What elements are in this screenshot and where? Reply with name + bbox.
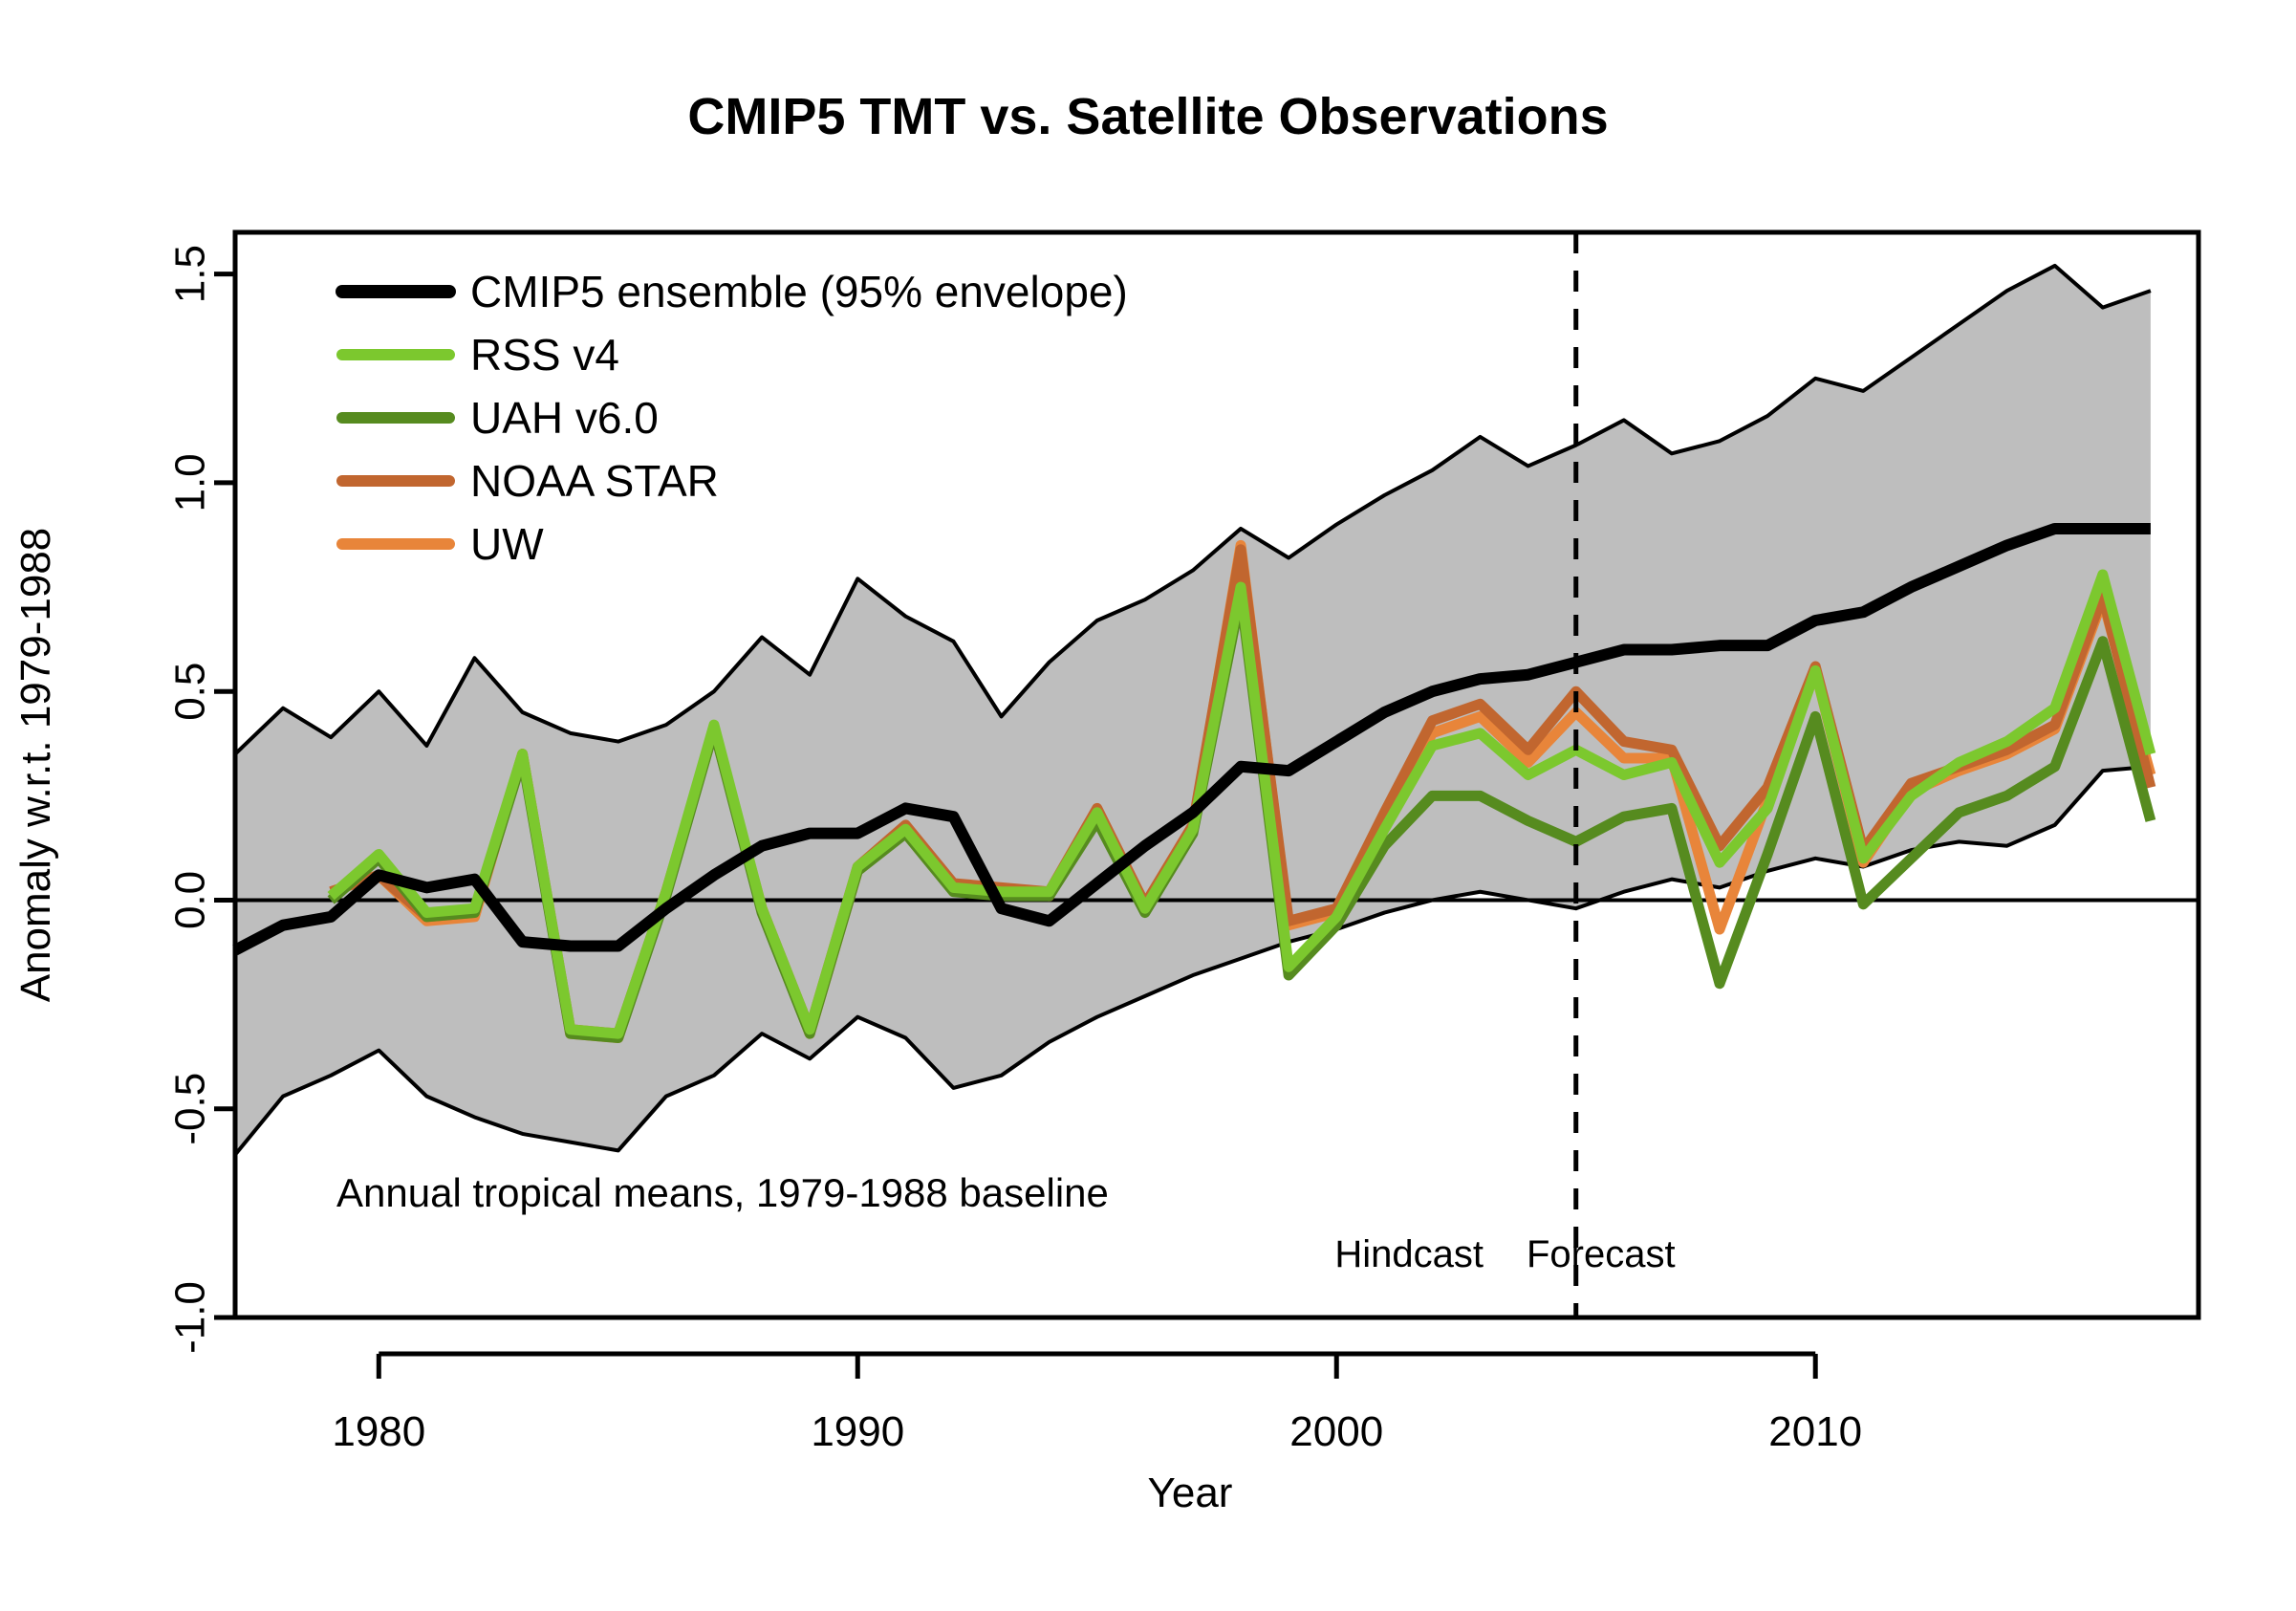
legend-label-3: NOAA STAR (470, 456, 719, 506)
x-tick-label: 1990 (811, 1408, 904, 1455)
baseline-annotation: Annual tropical means, 1979-1988 baselin… (336, 1170, 1109, 1215)
y-tick-label: 1.5 (167, 245, 214, 303)
legend-label-2: UAH v6.0 (470, 393, 659, 443)
chart-svg: CMIP5 TMT vs. Satellite Observations -1.… (0, 0, 2296, 1611)
x-tick-label: 2000 (1289, 1408, 1383, 1455)
y-axis-title: Anomaly w.r.t. 1979-1988 (12, 528, 59, 1003)
x-tick-label: 2010 (1768, 1408, 1862, 1455)
forecast-label: Forecast (1527, 1233, 1676, 1275)
legend-label-4: UW (470, 519, 544, 569)
y-tick-label: 0.5 (167, 663, 214, 721)
legend-label-1: RSS v4 (470, 330, 619, 380)
y-tick-label: 0.0 (167, 871, 214, 929)
x-tick-label: 1980 (332, 1408, 425, 1455)
legend-label-0: CMIP5 ensemble (95% envelope) (470, 267, 1128, 316)
y-tick-label: -0.5 (167, 1073, 214, 1145)
y-tick-label: -1.0 (167, 1281, 214, 1354)
page-title: CMIP5 TMT vs. Satellite Observations (687, 88, 1608, 145)
x-axis-title: Year (1148, 1469, 1233, 1516)
figure-container: CMIP5 TMT vs. Satellite Observations -1.… (0, 0, 2296, 1611)
y-tick-label: 1.0 (167, 453, 214, 512)
hindcast-label: Hindcast (1334, 1233, 1484, 1275)
